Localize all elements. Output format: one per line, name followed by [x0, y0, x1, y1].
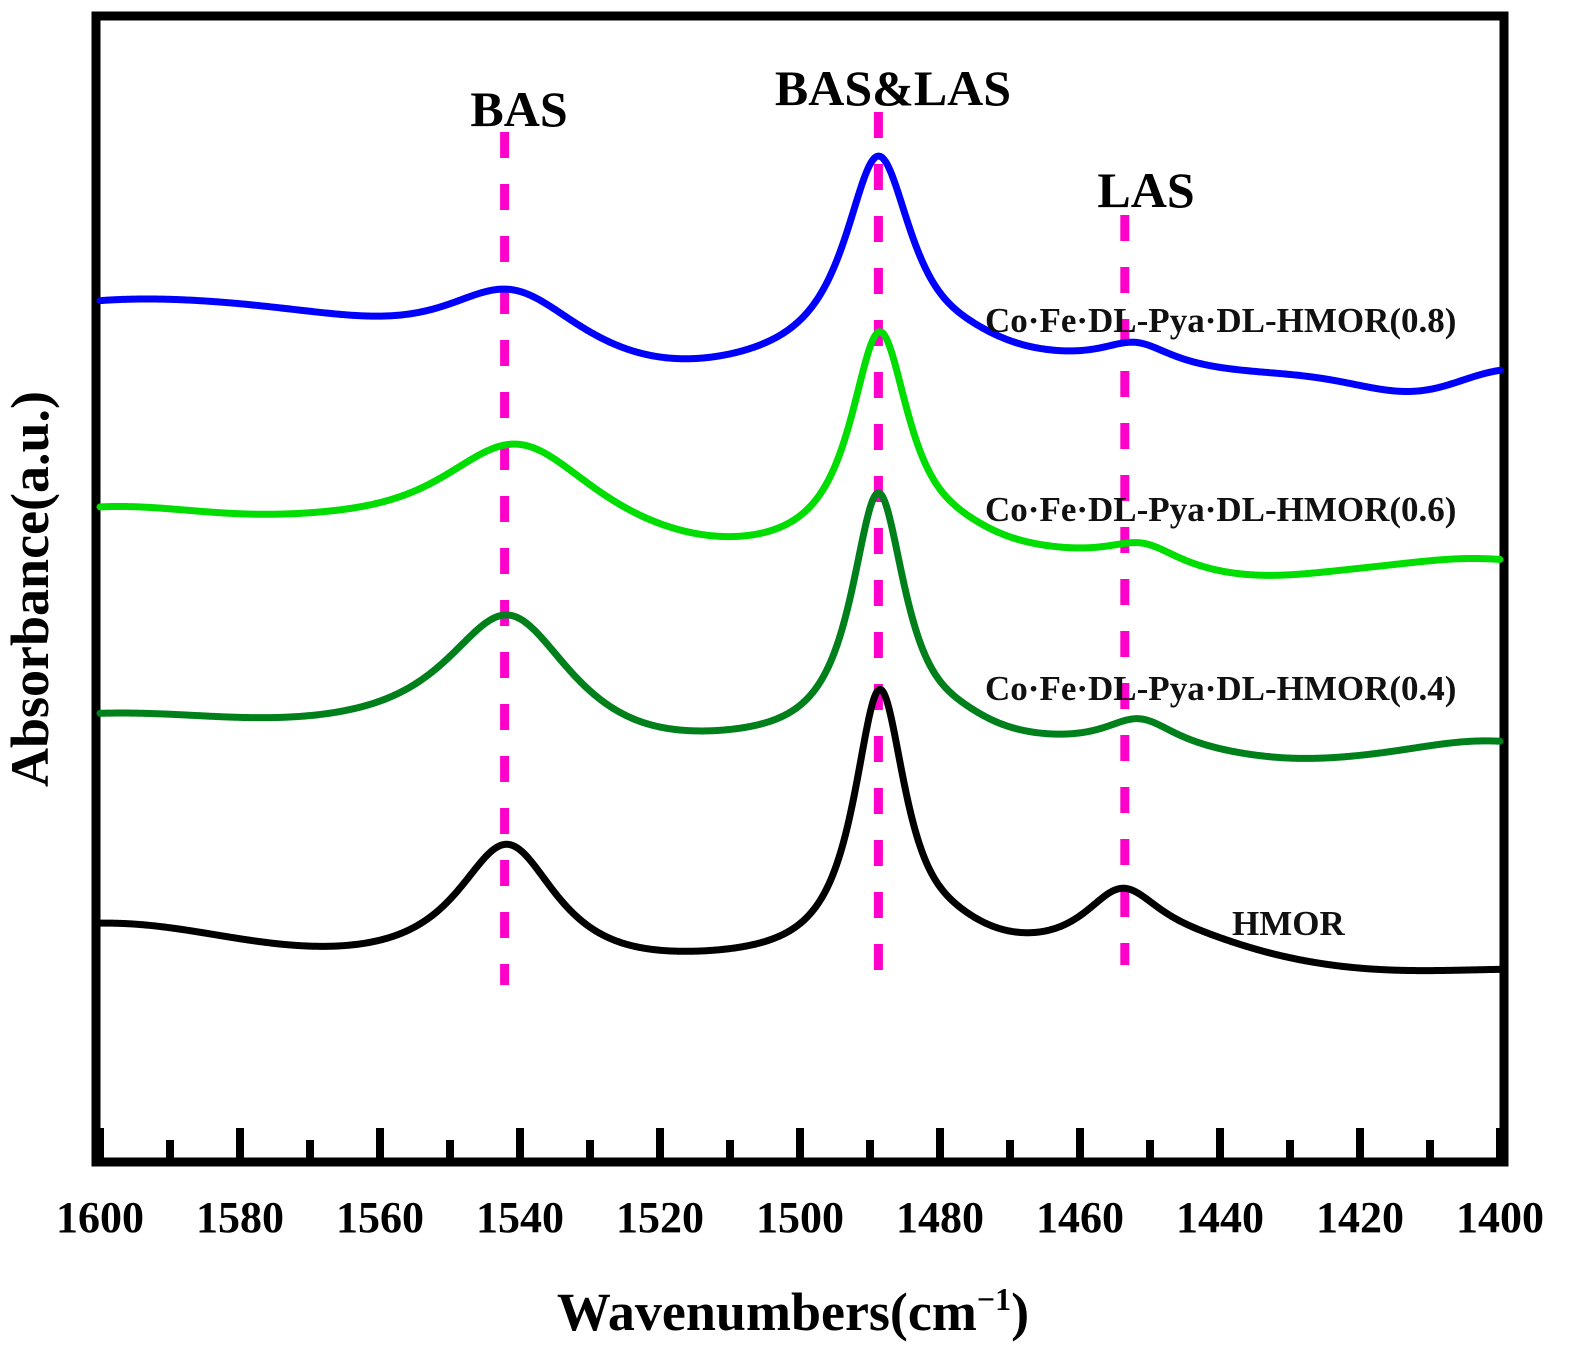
x-tick-label: 1520	[616, 1193, 704, 1242]
x-tick-label: 1560	[336, 1193, 424, 1242]
x-tick-label: 1600	[56, 1193, 144, 1242]
ftir-spectra-chart: 1600158015601540152015001480146014401420…	[0, 0, 1586, 1364]
x-tick-label: 1420	[1316, 1193, 1404, 1242]
x-tick-label: 1460	[1036, 1193, 1124, 1242]
series-label-hmor: HMOR	[1232, 904, 1345, 943]
annotation-baslas-label: BAS&LAS	[775, 60, 1011, 116]
x-axis-title-tail: )	[1011, 1282, 1029, 1342]
x-axis-title-superscript: −1	[977, 1281, 1011, 1317]
x-tick-label: 1440	[1176, 1193, 1264, 1242]
x-axis-title: Wavenumbers(cm−1)	[557, 1281, 1029, 1342]
x-axis-tick-labels: 1600158015601540152015001480146014401420…	[56, 1193, 1544, 1242]
series-label-co-fe-dl-pya-dl-hmor-06: Co·Fe·DL-Pya·DL-HMOR(0.6)	[985, 490, 1456, 529]
y-axis-title: Absorbance(a.u.)	[0, 391, 60, 787]
x-tick-label: 1400	[1456, 1193, 1544, 1242]
x-tick-label: 1480	[896, 1193, 984, 1242]
series-label-co-fe-dl-pya-dl-hmor-08: Co·Fe·DL-Pya·DL-HMOR(0.8)	[985, 301, 1456, 340]
annotation-bas-label: BAS	[470, 81, 567, 137]
x-tick-label: 1580	[196, 1193, 284, 1242]
series-label-co-fe-dl-pya-dl-hmor-04: Co·Fe·DL-Pya·DL-HMOR(0.4)	[985, 669, 1456, 708]
figure-root: 1600158015601540152015001480146014401420…	[0, 0, 1586, 1364]
x-tick-label: 1500	[756, 1193, 844, 1242]
x-tick-label: 1540	[476, 1193, 564, 1242]
annotation-las-label: LAS	[1097, 162, 1194, 218]
x-axis-title-base: Wavenumbers(cm	[557, 1282, 977, 1342]
